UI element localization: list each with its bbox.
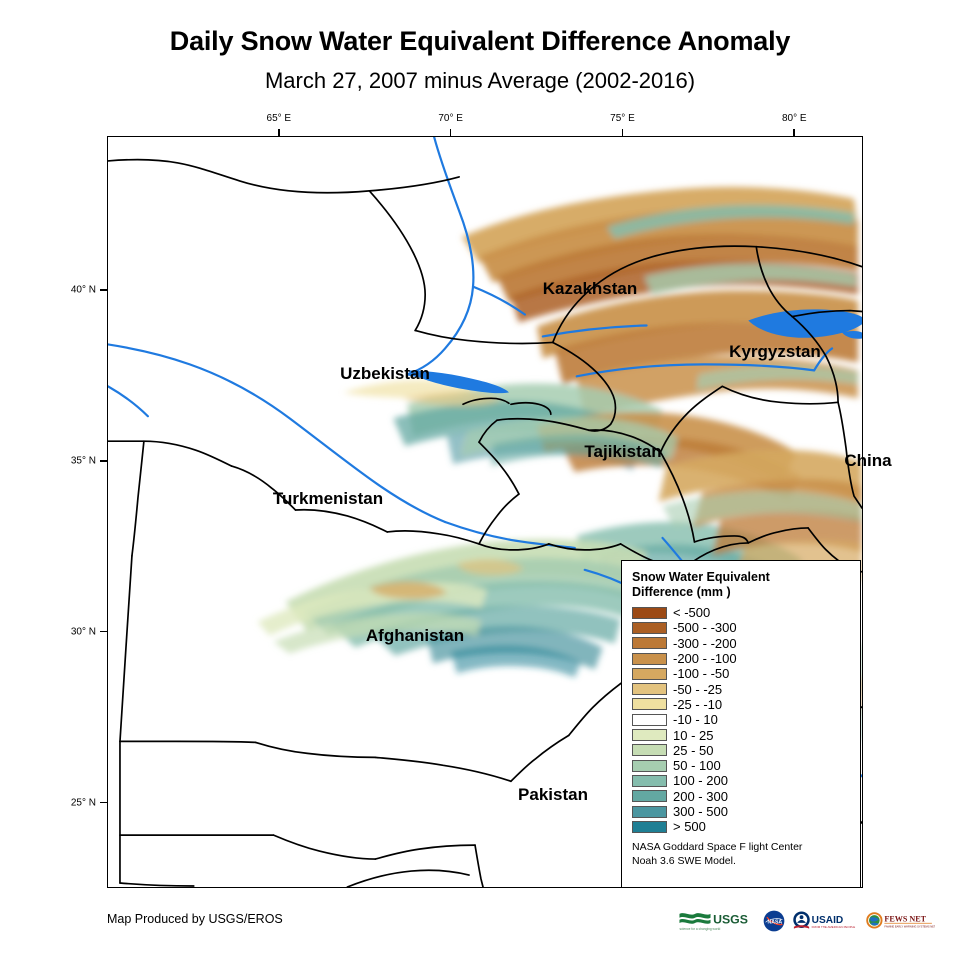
legend-label: -100 - -50 (673, 667, 729, 680)
legend-source-line1: NASA Goddard Space F light Center (632, 841, 850, 855)
svg-text:science for a changing world: science for a changing world (679, 927, 720, 931)
legend-row: -10 - 10 (632, 712, 850, 727)
legend-label: -300 - -200 (673, 637, 737, 650)
nasa-logo: NASA (763, 910, 785, 932)
legend-source: NASA Goddard Space F light Center Noah 3… (632, 841, 850, 868)
country-label-kazakhstan: Kazakhstan (543, 279, 637, 299)
legend-swatch (632, 821, 667, 833)
svg-text:FEWS NET: FEWS NET (884, 915, 926, 924)
legend-row: -500 - -300 (632, 620, 850, 635)
legend-swatch (632, 668, 667, 680)
legend-swatch (632, 683, 667, 695)
legend-swatch (632, 622, 667, 634)
legend-swatch (632, 744, 667, 756)
legend-label: 300 - 500 (673, 805, 728, 818)
lon-tick-label: 70° E (438, 113, 463, 124)
legend-row: 100 - 200 (632, 773, 850, 788)
usgs-logo: USGS science for a changing world (678, 910, 756, 932)
lat-tick-label: 40° N (49, 284, 96, 295)
legend-row: 25 - 50 (632, 743, 850, 758)
legend-label: -25 - -10 (673, 698, 722, 711)
svg-text:USAID: USAID (812, 915, 844, 926)
lon-tick-mark (622, 129, 624, 136)
legend-title-line1: Snow Water Equivalent (632, 570, 850, 585)
lat-tick-mark (100, 289, 107, 291)
legend-class-list: < -500-500 - -300-300 - -200-200 - -100-… (632, 605, 850, 834)
map-legend: Snow Water Equivalent Difference (mm ) <… (621, 560, 861, 888)
footer-credit: Map Produced by USGS/EROS (107, 912, 283, 926)
legend-swatch (632, 714, 667, 726)
legend-row: -300 - -200 (632, 636, 850, 651)
legend-swatch (632, 806, 667, 818)
fewsnet-logo: FEWS NET FAMINE EARLY WARNING SYSTEMS NE… (865, 910, 935, 932)
legend-row: < -500 (632, 605, 850, 620)
lat-tick-mark (100, 631, 107, 633)
lat-tick-mark (100, 802, 107, 804)
legend-source-line2: Noah 3.6 SWE Model. (632, 855, 850, 869)
legend-label: 25 - 50 (673, 744, 713, 757)
page-title: Daily Snow Water Equivalent Difference A… (0, 26, 960, 57)
legend-label: < -500 (673, 606, 710, 619)
lon-tick-label: 75° E (610, 113, 635, 124)
legend-label: -50 - -25 (673, 683, 722, 696)
legend-swatch (632, 775, 667, 787)
lon-tick-label: 65° E (267, 113, 292, 124)
usaid-logo: USAID FROM THE AMERICAN PEOPLE (792, 910, 858, 932)
legend-swatch (632, 637, 667, 649)
legend-label: 50 - 100 (673, 759, 721, 772)
legend-label: -10 - 10 (673, 713, 718, 726)
lon-tick-mark (793, 129, 795, 136)
legend-swatch (632, 760, 667, 772)
legend-swatch (632, 698, 667, 710)
lat-tick-label: 30° N (49, 626, 96, 637)
legend-row: -200 - -100 (632, 651, 850, 666)
legend-row: 200 - 300 (632, 789, 850, 804)
lat-tick-label: 35° N (49, 455, 96, 466)
legend-row: -100 - -50 (632, 666, 850, 681)
legend-row: 300 - 500 (632, 804, 850, 819)
legend-row: -50 - -25 (632, 681, 850, 696)
legend-title-line2: Difference (mm ) (632, 585, 850, 600)
svg-text:NASA: NASA (768, 920, 783, 926)
legend-row: -25 - -10 (632, 697, 850, 712)
legend-swatch (632, 653, 667, 665)
country-label-kyrgyzstan: Kyrgyzstan (729, 342, 821, 362)
legend-swatch (632, 607, 667, 619)
legend-row: > 500 (632, 819, 850, 834)
legend-label: > 500 (673, 820, 706, 833)
legend-label: -500 - -300 (673, 621, 737, 634)
svg-text:USGS: USGS (713, 913, 748, 927)
legend-swatch (632, 729, 667, 741)
legend-row: 50 - 100 (632, 758, 850, 773)
page-subtitle: March 27, 2007 minus Average (2002-2016) (0, 68, 960, 94)
legend-swatch (632, 790, 667, 802)
legend-label: 100 - 200 (673, 774, 728, 787)
legend-label: -200 - -100 (673, 652, 737, 665)
lon-tick-mark (278, 129, 280, 136)
agency-logos: USGS science for a changing world NASA U… (678, 906, 935, 936)
svg-text:FAMINE EARLY WARNING SYSTEMS N: FAMINE EARLY WARNING SYSTEMS NETWORK (884, 924, 935, 928)
lat-tick-label: 25° N (49, 797, 96, 808)
legend-label: 200 - 300 (673, 790, 728, 803)
legend-title: Snow Water Equivalent Difference (mm ) (632, 570, 850, 600)
lon-tick-mark (450, 129, 452, 136)
country-label-china: China (844, 451, 891, 471)
country-label-turkmenistan: Turkmenistan (273, 489, 383, 509)
country-label-afghanistan: Afghanistan (366, 626, 464, 646)
lon-tick-label: 80° E (782, 113, 807, 124)
svg-text:FROM THE AMERICAN PEOPLE: FROM THE AMERICAN PEOPLE (812, 925, 856, 929)
country-label-pakistan: Pakistan (518, 785, 588, 805)
lat-tick-mark (100, 460, 107, 462)
legend-label: 10 - 25 (673, 729, 713, 742)
country-label-uzbekistan: Uzbekistan (340, 364, 430, 384)
country-label-tajikistan: Tajikistan (584, 442, 661, 462)
legend-row: 10 - 25 (632, 727, 850, 742)
